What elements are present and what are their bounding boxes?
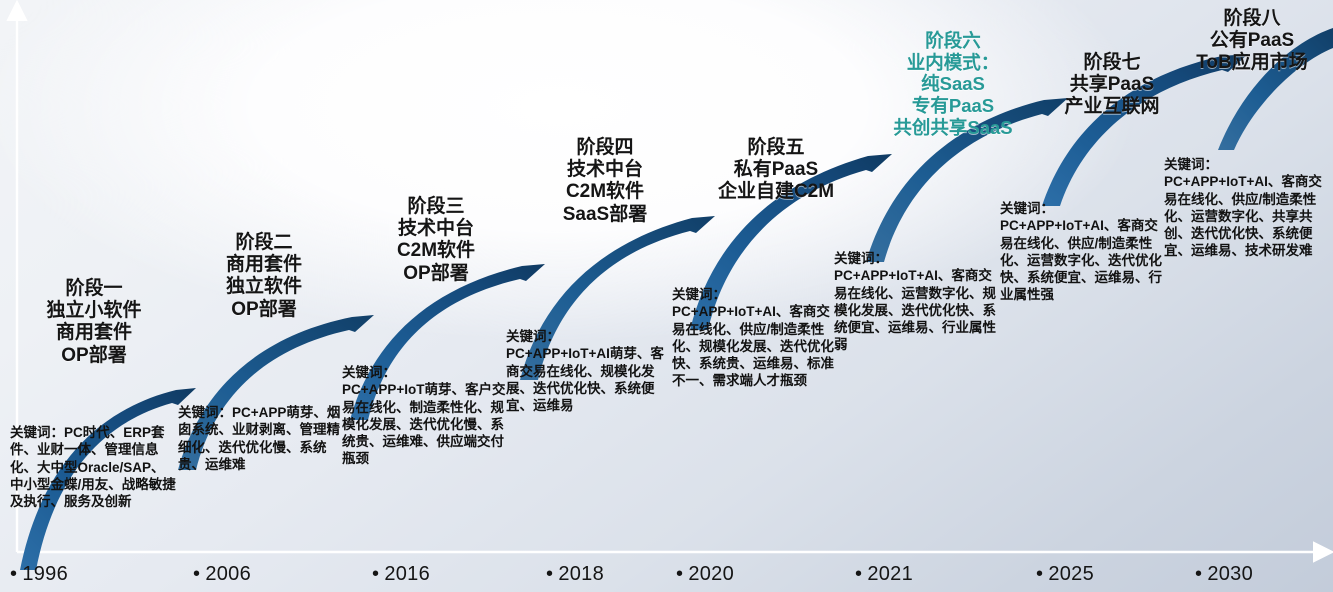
stage-3-keywords: 关键词： PC+APP+IoT萌芽、客户交易在线化、制造柔性化、规模化发展、迭代… — [342, 364, 508, 468]
stage-5-keywords: 关键词： PC+APP+IoT+AI、客商交易在线化、供应/制造柔性化、规模化发… — [672, 286, 842, 390]
stage-6-title: 阶段六 业内模式： 纯SaaS 专有PaaS 共创共享SaaS — [858, 30, 1048, 138]
stage-3-title: 阶段三 技术中台 C2M软件 OP部署 — [348, 196, 524, 285]
roadmap-diagram: 阶段一 独立小软件 商用套件 OP部署 阶段二 商用套件 独立软件 OP部署 阶… — [0, 0, 1333, 592]
stage-8-keywords: 关键词： PC+APP+IoT+AI、客商交易在线化、供应/制造柔性化、运营数字… — [1164, 156, 1333, 260]
bullet-icon: • — [372, 563, 379, 585]
stage-1-keywords: 关键词：PC时代、ERP套件、业财一体、管理信息化、大中型Oracle/SAP、… — [10, 424, 176, 510]
stage-1-title: 阶段一 独立小软件 商用套件 OP部署 — [10, 278, 178, 367]
stage-4-title: 阶段四 技术中台 C2M软件 SaaS部署 — [516, 137, 694, 226]
bullet-icon: • — [855, 563, 862, 585]
year-tick-1996: •1996 — [10, 563, 68, 586]
stage-5-title: 阶段五 私有PaaS 企业自建C2M — [678, 137, 874, 204]
stage-8-title: 阶段八 公有PaaS ToB应用市场 — [1166, 8, 1333, 75]
bullet-icon: • — [676, 563, 683, 585]
year-tick-2006: •2006 — [193, 563, 251, 586]
stage-2-keywords: 关键词：PC+APP萌芽、烟囱系统、业财剥离、管理精细化、迭代优化慢、系统贵、运… — [178, 404, 350, 473]
bullet-icon: • — [193, 563, 200, 585]
stage-6-keywords: 关键词： PC+APP+IoT+AI、客商交易在线化、运营数字化、规模化发展、迭… — [834, 250, 1000, 354]
year-tick-2020: •2020 — [676, 563, 734, 586]
bullet-icon: • — [1036, 563, 1043, 585]
year-tick-2018: •2018 — [546, 563, 604, 586]
bullet-icon: • — [546, 563, 553, 585]
stage-7-keywords: 关键词： PC+APP+IoT+AI、客商交易在线化、供应/制造柔性化、运营数字… — [1000, 200, 1168, 304]
stage-4-keywords: 关键词： PC+APP+IoT+AI萌芽、客商交易在线化、规模化发展、迭代优化快… — [506, 328, 676, 414]
year-tick-2030: •2030 — [1195, 563, 1253, 586]
stage-2-title: 阶段二 商用套件 独立软件 OP部署 — [178, 232, 350, 321]
bullet-icon: • — [1195, 563, 1202, 585]
bullet-icon: • — [10, 563, 17, 585]
year-tick-2025: •2025 — [1036, 563, 1094, 586]
year-tick-2021: •2021 — [855, 563, 913, 586]
year-tick-2016: •2016 — [372, 563, 430, 586]
